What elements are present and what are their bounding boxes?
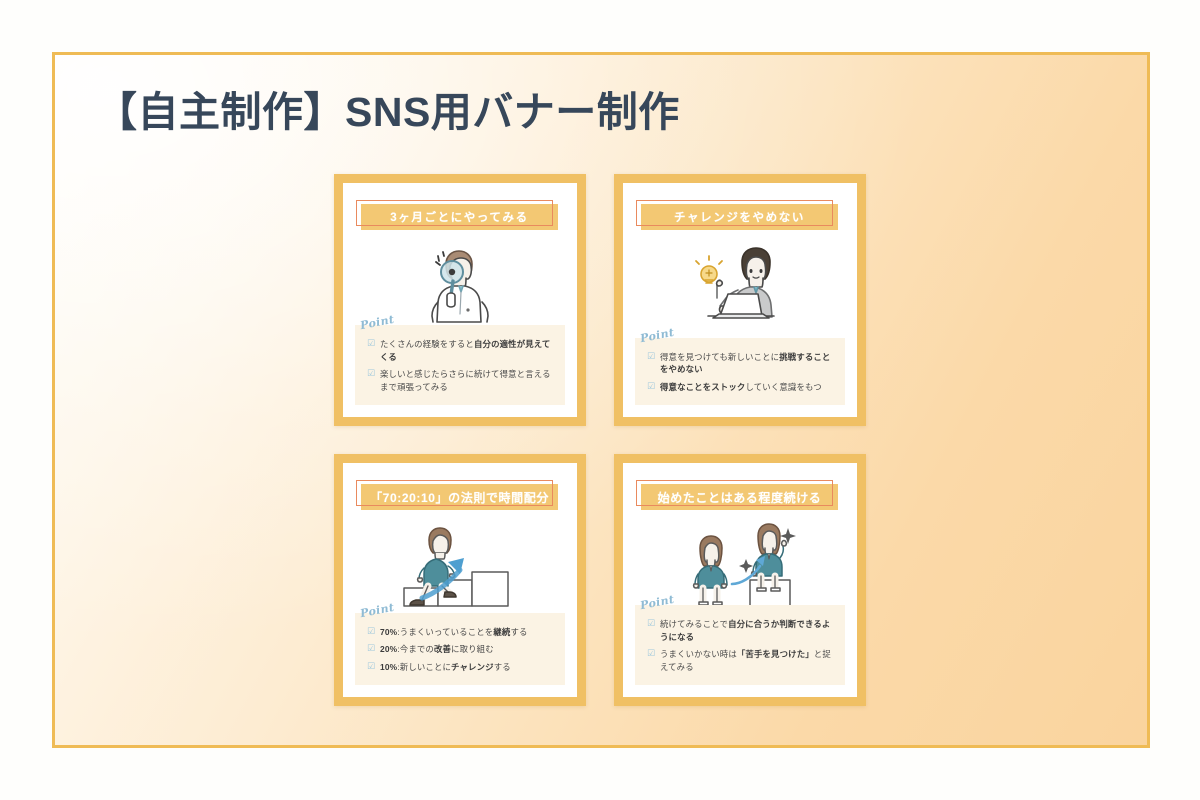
point-list: ☑続けてみることで自分に合うか判断できるようになる☑うまくいかない時は「苦手を見… <box>647 618 837 674</box>
check-box-icon: ☑ <box>367 644 375 652</box>
card-badge: 始めたことはある程度続ける <box>636 480 844 510</box>
illustration-person-climbing-stairs-with-arrow <box>343 514 577 618</box>
point-text: 続けてみることで <box>660 619 728 629</box>
point-item: ☑うまくいかない時は「苦手を見つけた」と捉えてみる <box>647 648 837 674</box>
point-text: に取り組む <box>451 644 494 654</box>
banner-card-continue[interactable]: 始めたことはある程度続ける <box>614 454 866 706</box>
badge-label: 「70:20:10」の法則で時間配分 <box>370 489 549 506</box>
card-badge: 3ヶ月ごとにやってみる <box>356 200 564 230</box>
point-text-emphasis: 10% <box>380 662 397 672</box>
badge-label: 始めたことはある程度続ける <box>658 489 822 506</box>
point-text: うまくいかない時は <box>660 649 737 659</box>
point-item: ☑たくさんの経験をすると自分の適性が見えてくる <box>367 338 557 364</box>
check-box-icon: ☑ <box>647 649 655 657</box>
point-item: ☑得意を見つけても新しいことに挑戦することをやめない <box>647 351 837 377</box>
point-text-emphasis: 改善 <box>434 644 451 654</box>
badge-fill: 3ヶ月ごとにやってみる <box>361 204 558 230</box>
point-text: :うまくいっていることを <box>397 627 493 637</box>
check-box-icon: ☑ <box>367 627 375 635</box>
point-text: 得意を見つけても新しいことに <box>660 352 779 362</box>
point-text-emphasis: 継続 <box>493 627 510 637</box>
point-text-emphasis: 「苦手を見つけた」 <box>737 649 814 659</box>
point-item: ☑10%:新しいことにチャレンジする <box>367 661 557 674</box>
point-text: する <box>510 627 527 637</box>
point-text-emphasis: 70% <box>380 627 397 637</box>
point-item: ☑得意なことをストックしていく意識をもつ <box>647 381 837 394</box>
banner-card-3months[interactable]: 3ヶ月ごとにやってみる <box>334 174 586 426</box>
check-box-icon: ☑ <box>647 382 655 390</box>
card-inner: 「70:20:10」の法則で時間配分 <box>343 463 577 697</box>
point-text-emphasis: 20% <box>380 644 397 654</box>
point-item: ☑20%:今までの改善に取り組む <box>367 643 557 656</box>
point-list: ☑得意を見つけても新しいことに挑戦することをやめない☑得意なことをストックしてい… <box>647 351 837 394</box>
point-text: :新しいことに <box>397 662 451 672</box>
point-panel: Point ☑得意を見つけても新しいことに挑戦することをやめない☑得意なことをス… <box>635 338 845 405</box>
point-list: ☑70%:うまくいっていることを継続する☑20%:今までの改善に取り組む☑10%… <box>367 626 557 674</box>
banner-card-challenge[interactable]: チャレンジをやめない <box>614 174 866 426</box>
point-text: していく意識をもつ <box>745 382 821 392</box>
point-text-emphasis: チャレンジ <box>451 662 494 672</box>
check-box-icon: ☑ <box>647 619 655 627</box>
badge-fill: 始めたことはある程度続ける <box>641 484 838 510</box>
point-list: ☑たくさんの経験をすると自分の適性が見えてくる☑楽しいと感じたらさらに続けて得意… <box>367 338 557 394</box>
point-panel: Point ☑70%:うまくいっていることを継続する☑20%:今までの改善に取り… <box>355 613 565 685</box>
point-item: ☑70%:うまくいっていることを継続する <box>367 626 557 639</box>
card-inner: 3ヶ月ごとにやってみる <box>343 183 577 417</box>
card-inner: チャレンジをやめない <box>623 183 857 417</box>
check-box-icon: ☑ <box>367 369 375 377</box>
banner-card-grid: 3ヶ月ごとにやってみる <box>334 174 866 714</box>
illustration-person-at-laptop-with-lightbulb <box>623 234 857 338</box>
check-box-icon: ☑ <box>647 352 655 360</box>
point-panel: Point ☑続けてみることで自分に合うか判断できるようになる☑うまくいかない時… <box>635 605 845 685</box>
card-inner: 始めたことはある程度続ける <box>623 463 857 697</box>
point-text: する <box>494 662 511 672</box>
point-text: たくさんの経験をすると <box>380 339 474 349</box>
point-text-emphasis: 得意なことをストック <box>660 382 745 392</box>
slide-canvas: 【自主制作】SNS用バナー制作 3ヶ月ごとにやってみる <box>0 0 1200 800</box>
point-text: :今までの <box>397 644 434 654</box>
page-title: 【自主制作】SNS用バナー制作 <box>96 78 680 138</box>
badge-fill: 「70:20:10」の法則で時間配分 <box>361 484 558 510</box>
point-text: 楽しいと感じたらさらに続けて得意と言えるまで頑張ってみる <box>380 369 551 392</box>
banner-card-702010[interactable]: 「70:20:10」の法則で時間配分 <box>334 454 586 706</box>
point-item: ☑楽しいと感じたらさらに続けて得意と言えるまで頑張ってみる <box>367 368 557 394</box>
check-box-icon: ☑ <box>367 662 375 670</box>
point-panel: Point ☑たくさんの経験をすると自分の適性が見えてくる☑楽しいと感じたらさら… <box>355 325 565 405</box>
check-box-icon: ☑ <box>367 339 375 347</box>
card-badge: チャレンジをやめない <box>636 200 844 230</box>
point-item: ☑続けてみることで自分に合うか判断できるようになる <box>647 618 837 644</box>
card-badge: 「70:20:10」の法則で時間配分 <box>356 480 564 510</box>
badge-fill: チャレンジをやめない <box>641 204 838 230</box>
badge-label: 3ヶ月ごとにやってみる <box>390 209 528 225</box>
badge-label: チャレンジをやめない <box>674 209 805 225</box>
